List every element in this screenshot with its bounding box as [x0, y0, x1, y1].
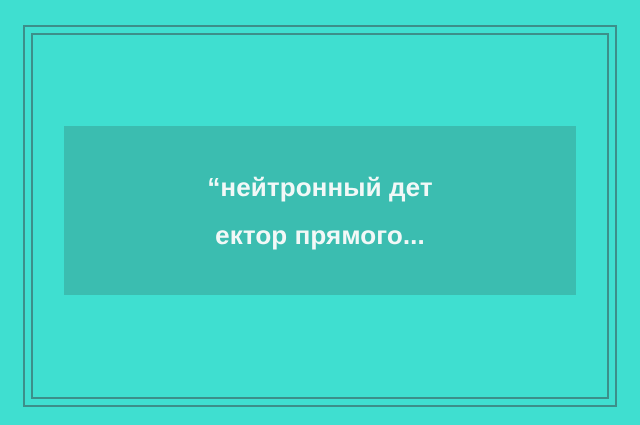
- quote-card: “нейтронный дет ектор прямого...: [0, 0, 640, 425]
- quote-panel: “нейтронный дет ектор прямого...: [64, 126, 576, 295]
- quote-line-2: ектор прямого...: [215, 211, 425, 259]
- quote-line-1: “нейтронный дет: [207, 163, 432, 211]
